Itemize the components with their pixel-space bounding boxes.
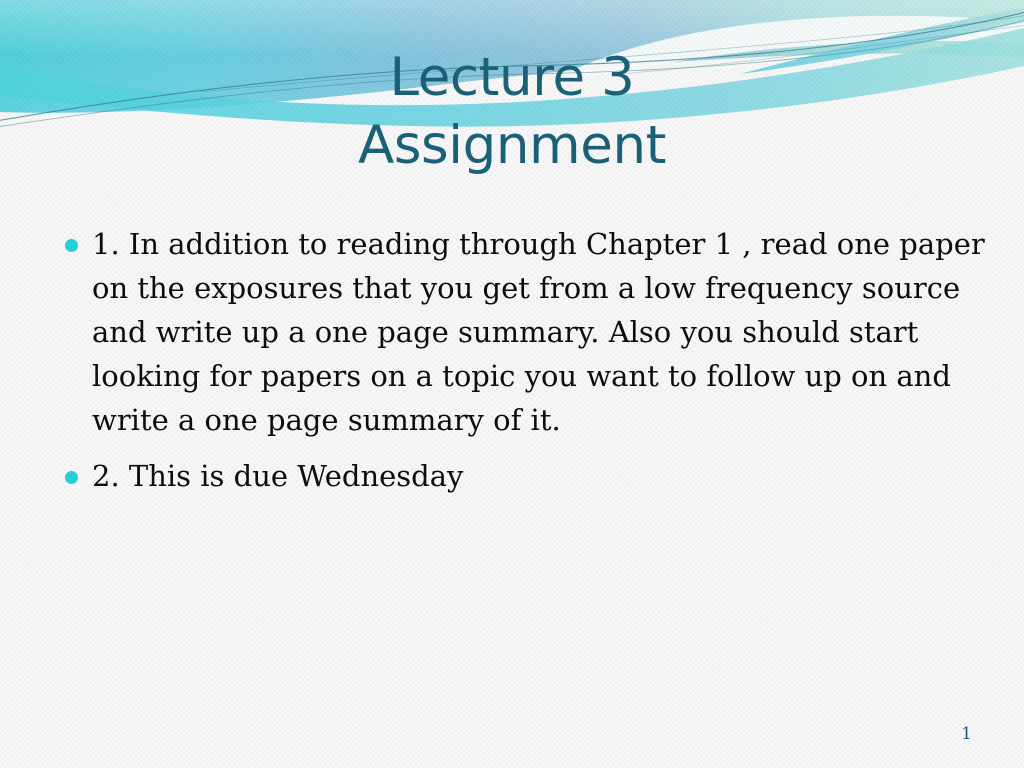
presentation-slide: Lecture 3 Assignment 1. In addition to r… [0, 0, 1024, 768]
bullet-text: 1. In addition to reading through Chapte… [92, 222, 986, 442]
bullet-list: 1. In addition to reading through Chapte… [56, 222, 986, 510]
title-line-2: Assignment [0, 112, 1024, 180]
title-line-1: Lecture 3 [0, 44, 1024, 112]
page-number: 1 [961, 724, 972, 744]
bullet-text: 2. This is due Wednesday [92, 454, 986, 498]
bullet-dot-icon [65, 239, 78, 252]
bullet-dot-icon [65, 471, 78, 484]
list-item: 2. This is due Wednesday [56, 454, 986, 498]
slide-title: Lecture 3 Assignment [0, 44, 1024, 180]
list-item: 1. In addition to reading through Chapte… [56, 222, 986, 442]
